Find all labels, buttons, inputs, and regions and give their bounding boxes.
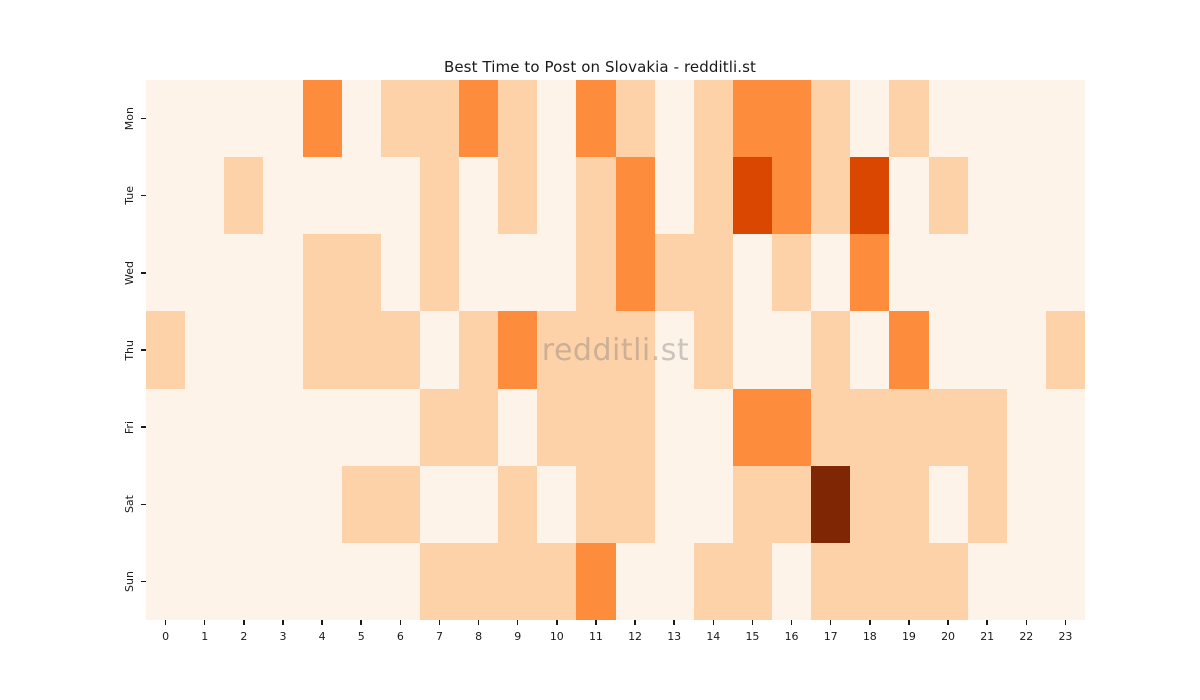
- heatmap-cell: [772, 80, 811, 157]
- heatmap-cell: [420, 311, 459, 388]
- x-axis: 01234567891011121314151617181920212223: [146, 620, 1085, 660]
- x-axis-tick-19: 19: [889, 620, 928, 660]
- heatmap-cell: [537, 80, 576, 157]
- x-axis-tick-mark: [830, 620, 831, 625]
- y-axis-tick-mark: [141, 118, 146, 119]
- x-axis-tick-mark: [752, 620, 753, 625]
- x-axis-tick-mark: [478, 620, 479, 625]
- heatmap-cell: [303, 157, 342, 234]
- heatmap-cell: [381, 389, 420, 466]
- x-axis-tick-mark: [439, 620, 440, 625]
- x-axis-tick-7: 7: [420, 620, 459, 660]
- heatmap-cell: [772, 234, 811, 311]
- y-axis-tick-tue: Tue: [0, 157, 146, 234]
- heatmap-cell: [733, 466, 772, 543]
- heatmap-cell: [811, 80, 850, 157]
- heatmap-cell: [342, 389, 381, 466]
- heatmap-cell: [146, 311, 185, 388]
- y-axis-tick-mon: Mon: [0, 80, 146, 157]
- y-axis-tick-fri: Fri: [0, 389, 146, 466]
- heatmap-cell: [850, 543, 889, 620]
- heatmap-cell: [263, 157, 302, 234]
- y-axis-label: Mon: [124, 107, 135, 130]
- x-axis-label: 11: [589, 630, 603, 643]
- heatmap-cell: [1007, 466, 1046, 543]
- heatmap-cell: [929, 543, 968, 620]
- heatmap-cell: [1046, 543, 1085, 620]
- x-axis-tick-4: 4: [303, 620, 342, 660]
- y-axis-tick-thu: Thu: [0, 311, 146, 388]
- heatmap-cell: [889, 157, 928, 234]
- x-axis-tick-mark: [595, 620, 596, 625]
- x-axis-tick-14: 14: [694, 620, 733, 660]
- heatmap-cell: [185, 311, 224, 388]
- x-axis-label: 7: [436, 630, 443, 643]
- heatmap-cell: [381, 466, 420, 543]
- heatmap-cell: [616, 466, 655, 543]
- heatmap-cell: [1007, 80, 1046, 157]
- heatmap-cell: [1046, 466, 1085, 543]
- heatmap-cell: [224, 311, 263, 388]
- heatmap-cell: [498, 80, 537, 157]
- heatmap-cell: [303, 80, 342, 157]
- x-axis-label: 9: [514, 630, 521, 643]
- heatmap-cell: [850, 466, 889, 543]
- x-axis-tick-mark: [165, 620, 166, 625]
- heatmap-cell: [772, 389, 811, 466]
- heatmap-cell: [968, 311, 1007, 388]
- heatmap-cell: [459, 157, 498, 234]
- heatmap-grid: [146, 80, 1085, 620]
- heatmap-cell: [224, 234, 263, 311]
- heatmap-cell: [655, 543, 694, 620]
- y-axis-label: Sat: [124, 495, 135, 513]
- heatmap-cell: [576, 311, 615, 388]
- heatmap-cell: [224, 80, 263, 157]
- heatmap-cell: [146, 543, 185, 620]
- heatmap-cell: [1007, 543, 1046, 620]
- x-axis-label: 14: [706, 630, 720, 643]
- heatmap-cell: [1046, 389, 1085, 466]
- x-axis-tick-6: 6: [381, 620, 420, 660]
- x-axis-tick-8: 8: [459, 620, 498, 660]
- y-axis-label: Fri: [124, 421, 135, 434]
- heatmap-cell: [185, 389, 224, 466]
- x-axis-label: 3: [279, 630, 286, 643]
- heatmap-cell: [459, 80, 498, 157]
- x-axis-label: 22: [1019, 630, 1033, 643]
- heatmap-cell: [537, 157, 576, 234]
- y-axis-label: Wed: [124, 261, 135, 285]
- heatmap-cell: [772, 466, 811, 543]
- x-axis-label: 2: [240, 630, 247, 643]
- heatmap-cell: [537, 543, 576, 620]
- heatmap-cell: [968, 389, 1007, 466]
- heatmap-cell: [381, 543, 420, 620]
- y-axis-tick-mark: [141, 195, 146, 196]
- heatmap-cell: [224, 157, 263, 234]
- heatmap-cell: [929, 157, 968, 234]
- heatmap-cell: [616, 389, 655, 466]
- heatmap-cell: [185, 543, 224, 620]
- heatmap-cell: [498, 543, 537, 620]
- heatmap-cell: [537, 389, 576, 466]
- heatmap-cell: [1007, 389, 1046, 466]
- heatmap-cell: [733, 80, 772, 157]
- x-axis-label: 13: [667, 630, 681, 643]
- heatmap-cell: [889, 80, 928, 157]
- x-axis-tick-11: 11: [576, 620, 615, 660]
- heatmap-cell: [889, 543, 928, 620]
- heatmap-cell: [1046, 234, 1085, 311]
- heatmap-cell: [1046, 80, 1085, 157]
- heatmap-cell: [381, 311, 420, 388]
- heatmap-cell: [968, 157, 1007, 234]
- y-axis-tick-mark: [141, 349, 146, 350]
- x-axis-label: 1: [201, 630, 208, 643]
- heatmap-cell: [968, 543, 1007, 620]
- x-axis-label: 18: [863, 630, 877, 643]
- heatmap-cell: [576, 389, 615, 466]
- x-axis-label: 0: [162, 630, 169, 643]
- x-axis-tick-17: 17: [811, 620, 850, 660]
- heatmap-cell: [929, 466, 968, 543]
- heatmap-cell: [420, 389, 459, 466]
- heatmap-cell: [811, 234, 850, 311]
- x-axis-label: 21: [980, 630, 994, 643]
- heatmap-cell: [889, 311, 928, 388]
- y-axis-tick-mark: [141, 581, 146, 582]
- heatmap-cell: [1007, 157, 1046, 234]
- x-axis-tick-mark: [556, 620, 557, 625]
- heatmap-cell: [694, 389, 733, 466]
- heatmap-cell: [342, 80, 381, 157]
- x-axis-label: 16: [785, 630, 799, 643]
- x-axis-tick-2: 2: [224, 620, 263, 660]
- heatmap-cell: [694, 80, 733, 157]
- heatmap-cell: [498, 466, 537, 543]
- x-axis-label: 19: [902, 630, 916, 643]
- heatmap-cell: [655, 466, 694, 543]
- heatmap-cell: [185, 466, 224, 543]
- x-axis-tick-13: 13: [655, 620, 694, 660]
- x-axis-label: 5: [358, 630, 365, 643]
- x-axis-tick-mark: [517, 620, 518, 625]
- heatmap-cell: [342, 157, 381, 234]
- y-axis-tick-wed: Wed: [0, 234, 146, 311]
- heatmap-cell: [850, 311, 889, 388]
- x-axis-tick-18: 18: [850, 620, 889, 660]
- x-axis-label: 17: [824, 630, 838, 643]
- heatmap-cell: [576, 234, 615, 311]
- x-axis-label: 23: [1058, 630, 1072, 643]
- heatmap-cell: [1046, 157, 1085, 234]
- heatmap-cell: [616, 311, 655, 388]
- page-title: Best Time to Post on Slovakia - redditli…: [0, 58, 1200, 76]
- x-axis-tick-mark: [869, 620, 870, 625]
- x-axis-tick-mark: [204, 620, 205, 625]
- heatmap-cell: [576, 466, 615, 543]
- heatmap-cell: [733, 389, 772, 466]
- heatmap-cell: [733, 311, 772, 388]
- heatmap-plot-area: [146, 80, 1085, 620]
- heatmap-cell: [576, 543, 615, 620]
- heatmap-cell: [655, 389, 694, 466]
- heatmap-cell: [576, 157, 615, 234]
- heatmap-cell: [655, 80, 694, 157]
- x-axis-tick-3: 3: [263, 620, 302, 660]
- x-axis-tick-12: 12: [616, 620, 655, 660]
- heatmap-cell: [381, 234, 420, 311]
- heatmap-cell: [263, 389, 302, 466]
- heatmap-cell: [929, 389, 968, 466]
- heatmap-cell: [459, 389, 498, 466]
- heatmap-cell: [1007, 311, 1046, 388]
- x-axis-label: 20: [941, 630, 955, 643]
- heatmap-cell: [929, 80, 968, 157]
- x-axis-tick-5: 5: [342, 620, 381, 660]
- heatmap-cell: [263, 311, 302, 388]
- heatmap-cell: [263, 80, 302, 157]
- heatmap-cell: [733, 543, 772, 620]
- heatmap-cell: [889, 466, 928, 543]
- heatmap-cell: [459, 234, 498, 311]
- x-axis-tick-15: 15: [733, 620, 772, 660]
- heatmap-cell: [694, 466, 733, 543]
- heatmap-cell: [537, 234, 576, 311]
- x-axis-label: 10: [550, 630, 564, 643]
- x-axis-tick-mark: [791, 620, 792, 625]
- heatmap-cell: [303, 543, 342, 620]
- heatmap-cell: [811, 466, 850, 543]
- heatmap-cell: [224, 466, 263, 543]
- y-axis-label: Tue: [124, 186, 135, 205]
- heatmap-cell: [811, 311, 850, 388]
- heatmap-cell: [185, 234, 224, 311]
- heatmap-cell: [929, 311, 968, 388]
- heatmap-cell: [616, 80, 655, 157]
- heatmap-cell: [655, 311, 694, 388]
- x-axis-tick-mark: [713, 620, 714, 625]
- heatmap-cell: [420, 80, 459, 157]
- heatmap-cell: [616, 157, 655, 234]
- heatmap-cell: [146, 466, 185, 543]
- x-axis-tick-mark: [908, 620, 909, 625]
- x-axis-label: 12: [628, 630, 642, 643]
- heatmap-cell: [342, 311, 381, 388]
- heatmap-cell: [811, 157, 850, 234]
- heatmap-cell: [420, 466, 459, 543]
- heatmap-cell: [303, 389, 342, 466]
- x-axis-tick-16: 16: [772, 620, 811, 660]
- heatmap-cell: [263, 234, 302, 311]
- heatmap-cell: [576, 80, 615, 157]
- heatmap-cell: [459, 311, 498, 388]
- heatmap-cell: [968, 80, 1007, 157]
- heatmap-cell: [811, 543, 850, 620]
- heatmap-cell: [498, 157, 537, 234]
- x-axis-tick-mark: [673, 620, 674, 625]
- x-axis-tick-mark: [634, 620, 635, 625]
- heatmap-cell: [889, 389, 928, 466]
- heatmap-cell: [616, 234, 655, 311]
- x-axis-tick-mark: [947, 620, 948, 625]
- heatmap-cell: [498, 234, 537, 311]
- heatmap-cell: [459, 466, 498, 543]
- heatmap-cell: [929, 234, 968, 311]
- heatmap-cell: [146, 157, 185, 234]
- heatmap-cell: [889, 234, 928, 311]
- x-axis-label: 8: [475, 630, 482, 643]
- x-axis-tick-mark: [1065, 620, 1066, 625]
- heatmap-cell: [224, 389, 263, 466]
- heatmap-cell: [303, 311, 342, 388]
- heatmap-cell: [381, 157, 420, 234]
- heatmap-cell: [772, 311, 811, 388]
- heatmap-cell: [1007, 234, 1046, 311]
- heatmap-cell: [850, 80, 889, 157]
- x-axis-label: 6: [397, 630, 404, 643]
- y-axis: MonTueWedThuFriSatSun: [0, 80, 146, 620]
- heatmap-cell: [537, 311, 576, 388]
- heatmap-cell: [694, 543, 733, 620]
- heatmap-cell: [381, 80, 420, 157]
- x-axis-tick-1: 1: [185, 620, 224, 660]
- heatmap-cell: [850, 234, 889, 311]
- heatmap-cell: [303, 466, 342, 543]
- heatmap-cell: [616, 543, 655, 620]
- y-axis-tick-mark: [141, 426, 146, 427]
- x-axis-tick-mark: [321, 620, 322, 625]
- heatmap-cell: [146, 80, 185, 157]
- heatmap-cell: [263, 466, 302, 543]
- heatmap-cell: [146, 234, 185, 311]
- heatmap-cell: [694, 234, 733, 311]
- heatmap-cell: [342, 543, 381, 620]
- y-axis-label: Thu: [124, 340, 135, 361]
- heatmap-cell: [733, 157, 772, 234]
- heatmap-cell: [850, 389, 889, 466]
- x-axis-tick-mark: [400, 620, 401, 625]
- x-axis-tick-mark: [282, 620, 283, 625]
- heatmap-cell: [185, 157, 224, 234]
- heatmap-cell: [772, 543, 811, 620]
- heatmap-cell: [420, 543, 459, 620]
- x-axis-tick-9: 9: [498, 620, 537, 660]
- y-axis-tick-mark: [141, 504, 146, 505]
- x-axis-tick-22: 22: [1007, 620, 1046, 660]
- heatmap-cell: [655, 157, 694, 234]
- heatmap-cell: [263, 543, 302, 620]
- heatmap-cell: [420, 157, 459, 234]
- heatmap-cell: [342, 234, 381, 311]
- heatmap-figure: Best Time to Post on Slovakia - redditli…: [0, 0, 1200, 700]
- x-axis-tick-mark: [360, 620, 361, 625]
- heatmap-cell: [694, 157, 733, 234]
- heatmap-cell: [420, 234, 459, 311]
- heatmap-cell: [655, 234, 694, 311]
- heatmap-cell: [498, 389, 537, 466]
- heatmap-cell: [968, 234, 1007, 311]
- heatmap-cell: [459, 543, 498, 620]
- heatmap-cell: [498, 311, 537, 388]
- y-axis-tick-mark: [141, 272, 146, 273]
- x-axis-tick-23: 23: [1046, 620, 1085, 660]
- x-axis-tick-10: 10: [537, 620, 576, 660]
- heatmap-cell: [968, 466, 1007, 543]
- heatmap-cell: [146, 389, 185, 466]
- x-axis-tick-0: 0: [146, 620, 185, 660]
- heatmap-cell: [850, 157, 889, 234]
- x-axis-tick-21: 21: [968, 620, 1007, 660]
- y-axis-tick-sat: Sat: [0, 466, 146, 543]
- y-axis-label: Sun: [124, 571, 135, 592]
- x-axis-tick-20: 20: [929, 620, 968, 660]
- heatmap-cell: [811, 389, 850, 466]
- heatmap-cell: [303, 234, 342, 311]
- heatmap-cell: [694, 311, 733, 388]
- x-axis-tick-mark: [1026, 620, 1027, 625]
- x-axis-tick-mark: [243, 620, 244, 625]
- x-axis-label: 4: [319, 630, 326, 643]
- heatmap-cell: [733, 234, 772, 311]
- heatmap-cell: [224, 543, 263, 620]
- heatmap-cell: [342, 466, 381, 543]
- heatmap-cell: [537, 466, 576, 543]
- heatmap-cell: [1046, 311, 1085, 388]
- heatmap-cell: [772, 157, 811, 234]
- x-axis-label: 15: [745, 630, 759, 643]
- y-axis-tick-sun: Sun: [0, 543, 146, 620]
- heatmap-cell: [185, 80, 224, 157]
- x-axis-tick-mark: [986, 620, 987, 625]
